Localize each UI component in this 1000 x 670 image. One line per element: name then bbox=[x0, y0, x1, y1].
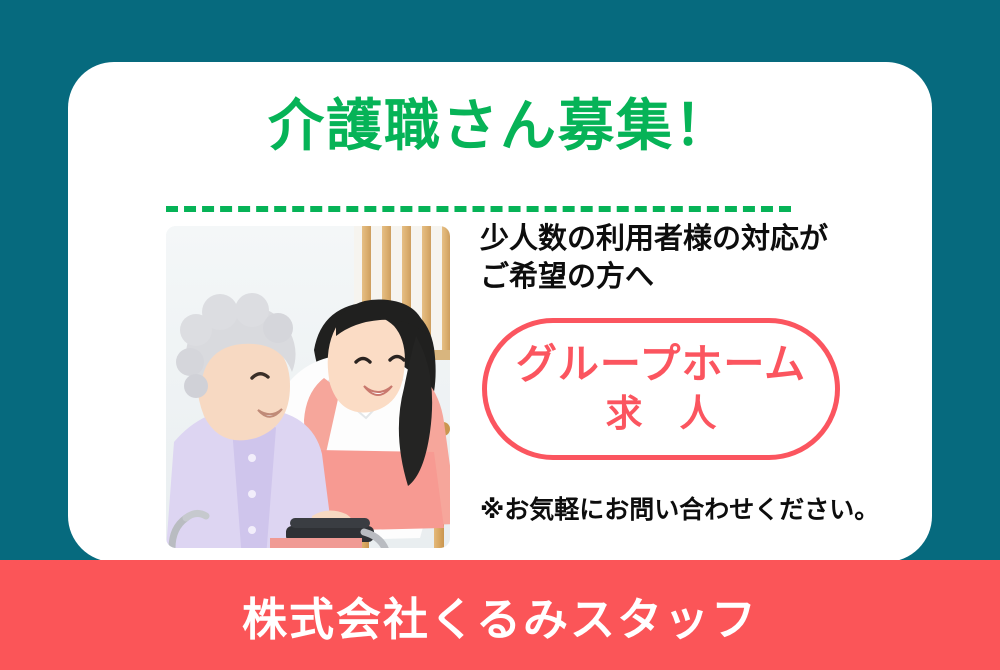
caregiver-photo-illustration bbox=[166, 226, 450, 548]
dashed-divider bbox=[166, 206, 791, 212]
job-badge: グループホーム 求 人 bbox=[482, 318, 840, 460]
white-card-panel: 介護職さん募集！ bbox=[68, 62, 932, 562]
page-title: 介護職さん募集！ bbox=[68, 98, 932, 154]
right-column: 少人数の利用者様の対応が ご希望の方へ bbox=[480, 220, 880, 297]
job-badge-line1: グループホーム bbox=[516, 343, 806, 386]
recruitment-poster: 介護職さん募集！ bbox=[0, 0, 1000, 670]
contact-note: ※お気軽にお問い合わせください。 bbox=[480, 490, 879, 526]
lead-copy: 少人数の利用者様の対応が ご希望の方へ bbox=[480, 220, 880, 297]
job-badge-line2: 求 人 bbox=[606, 394, 717, 435]
company-banner: 株式会社くるみスタッフ bbox=[0, 560, 1000, 670]
company-name: 株式会社くるみスタッフ bbox=[242, 583, 758, 648]
caregiver-photo bbox=[166, 226, 450, 548]
